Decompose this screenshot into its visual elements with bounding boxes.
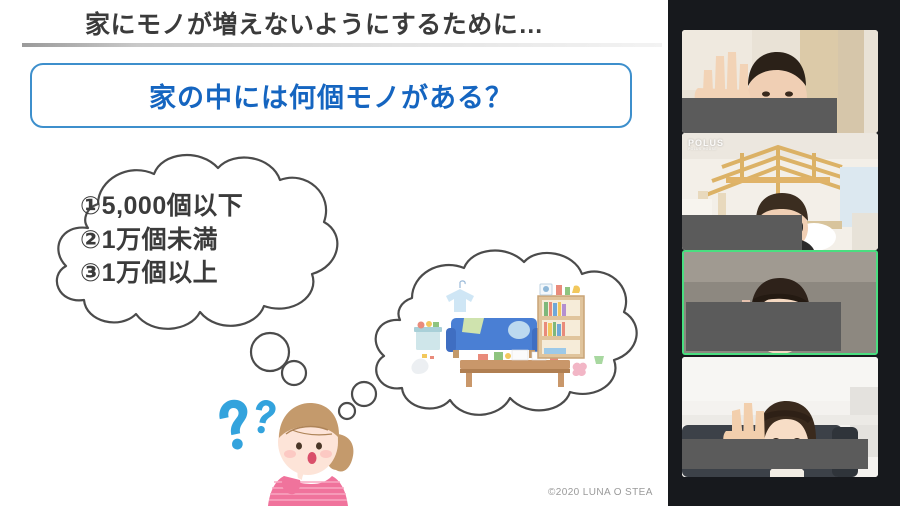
- option-item-1: ①5,000個以下: [80, 190, 243, 224]
- participant-1-name-redaction: [682, 98, 837, 133]
- shirt: [268, 476, 348, 506]
- plush-toy-icon: [573, 363, 587, 376]
- polus-watermark: POLUSPOLUS HOUSE: [688, 139, 724, 151]
- option-item-3: ③1万個以上: [80, 257, 243, 291]
- video-tile-participant-4[interactable]: [682, 357, 878, 477]
- room-scene-illustration: [408, 278, 608, 393]
- answer-options-list: ①5,000個以下 ②1万個未満 ③1万個以上: [80, 190, 243, 291]
- title-divider: [22, 43, 662, 47]
- participant-4-name-redaction: [682, 439, 868, 469]
- hanging-clothes-icon: [446, 281, 474, 312]
- presentation-slide: 家にモノが増えないようにするために… 家の中には何個モノがある？ ①5,000個…: [0, 0, 668, 506]
- video-tile-participant-3[interactable]: [682, 250, 878, 355]
- question-callout-box: 家の中には何個モノがある？: [30, 63, 632, 128]
- green-item-icon: [594, 356, 604, 364]
- bookshelf-icon: [538, 284, 584, 358]
- question-text: 家の中には何個モノがある？: [149, 76, 513, 115]
- participant-3-name-redaction: [686, 302, 841, 351]
- cloud-bubble-options-trail: [244, 330, 314, 390]
- puzzled-woman-illustration: [262, 390, 370, 506]
- copyright-notice: ©2020 LUNA O STEA: [548, 487, 653, 498]
- toy-box-icon: [414, 321, 442, 359]
- beanbag-icon: [411, 359, 428, 374]
- participant-2-name-redaction: [682, 215, 802, 250]
- video-conference-panel: POLUSPOLUS HOUSE: [668, 0, 900, 506]
- option-item-2: ②1万個未満: [80, 224, 243, 258]
- video-tile-participant-1[interactable]: [682, 30, 878, 133]
- video-tile-participant-2[interactable]: POLUSPOLUS HOUSE: [682, 133, 878, 250]
- slide-title: 家にモノが増えないようにするために…: [85, 5, 544, 41]
